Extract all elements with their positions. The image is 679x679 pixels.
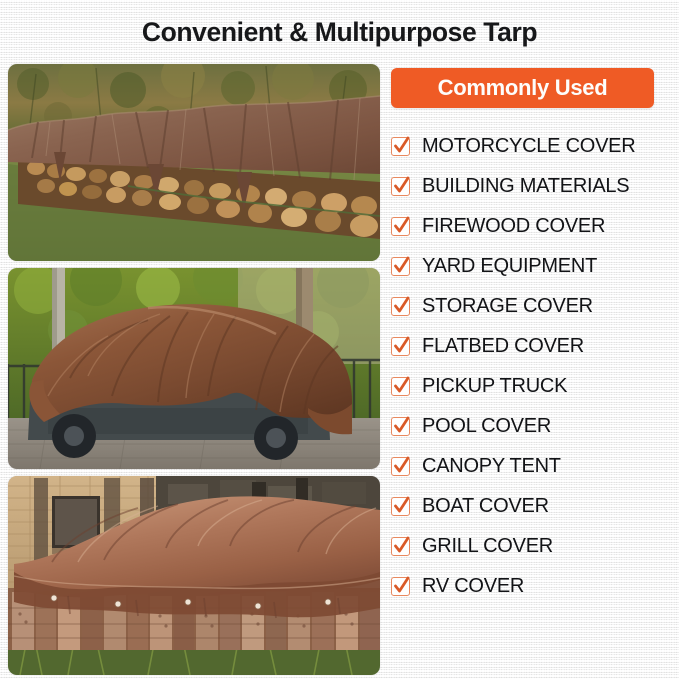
checkbox-checked-icon[interactable] [391,377,410,396]
car-tarp-image [8,268,380,469]
list-item[interactable]: FIREWOOD COVER [391,206,679,246]
feature-list: MOTORCYCLE COVER BUILDING MATERIALS FIRE… [391,126,679,606]
building-materials-tarp-image [8,476,380,675]
list-item-label: BOAT COVER [422,495,549,518]
list-item[interactable]: FLATBED COVER [391,326,679,366]
building-materials-tarp-photo [8,476,380,675]
commonly-used-panel: Commonly Used MOTORCYCLE COVER BUILDING … [388,64,679,679]
list-item-label: GRILL COVER [422,535,553,558]
list-item-label: STORAGE COVER [422,295,593,318]
checkbox-checked-icon[interactable] [391,537,410,556]
checkbox-checked-icon[interactable] [391,457,410,476]
list-item[interactable]: STORAGE COVER [391,286,679,326]
firewood-tarp-photo [8,64,380,261]
checkbox-checked-icon[interactable] [391,257,410,276]
list-item[interactable]: BUILDING MATERIALS [391,166,679,206]
list-item-label: CANOPY TENT [422,455,561,478]
list-item-label: POOL COVER [422,415,551,438]
photo-gallery [0,64,388,679]
list-item-label: FLATBED COVER [422,335,584,358]
list-item[interactable]: POOL COVER [391,406,679,446]
page-title: Convenient & Multipurpose Tarp [0,0,679,49]
list-item[interactable]: BOAT COVER [391,486,679,526]
checkbox-checked-icon[interactable] [391,497,410,516]
checkbox-checked-icon[interactable] [391,577,410,596]
list-item[interactable]: PICKUP TRUCK [391,366,679,406]
checkbox-checked-icon[interactable] [391,297,410,316]
list-item-label: PICKUP TRUCK [422,375,567,398]
checkbox-checked-icon[interactable] [391,177,410,196]
list-item-label: RV COVER [422,575,524,598]
checkbox-checked-icon[interactable] [391,137,410,156]
list-item[interactable]: MOTORCYCLE COVER [391,126,679,166]
list-item[interactable]: CANOPY TENT [391,446,679,486]
checkbox-checked-icon[interactable] [391,217,410,236]
list-item[interactable]: YARD EQUIPMENT [391,246,679,286]
list-item[interactable]: RV COVER [391,566,679,606]
list-item-label: YARD EQUIPMENT [422,255,597,278]
commonly-used-badge: Commonly Used [391,68,654,108]
car-tarp-photo [8,268,380,469]
list-item-label: BUILDING MATERIALS [422,175,629,198]
content-area: Commonly Used MOTORCYCLE COVER BUILDING … [0,64,679,679]
list-item[interactable]: GRILL COVER [391,526,679,566]
checkbox-checked-icon[interactable] [391,417,410,436]
firewood-tarp-image [8,64,380,261]
checkbox-checked-icon[interactable] [391,337,410,356]
list-item-label: MOTORCYCLE COVER [422,135,635,158]
list-item-label: FIREWOOD COVER [422,215,605,238]
